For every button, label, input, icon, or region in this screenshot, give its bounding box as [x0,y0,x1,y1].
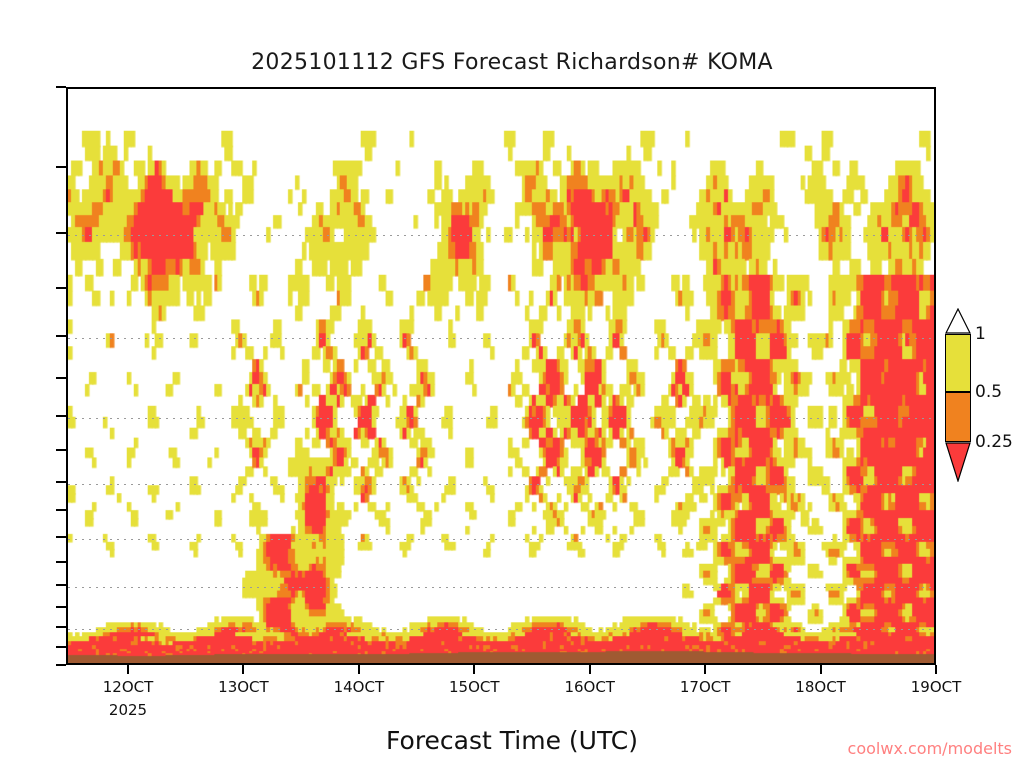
x-axis-tick-label: 17OCT [680,678,731,696]
x-axis-tick-mark [473,665,475,674]
y-axis-tick-mark [56,415,66,417]
chart-canvas: 2025101112 GFS Forecast Richardson# KOMA… [0,0,1024,768]
colorbar-segment-orange [945,392,971,442]
x-axis-tick-mark [242,665,244,674]
x-axis-tick-mark [935,665,937,674]
colorbar: 10.50.25 [945,308,971,480]
y-axis-tick-mark [56,664,66,666]
y-axis-tick-mark [56,626,66,628]
y-axis-tick-mark [56,166,66,168]
x-axis-tick-label: 14OCT [334,678,385,696]
colorbar-tick-label: 0.25 [975,432,1013,452]
y-axis-tick-mark [56,561,66,563]
x-axis-tick-mark [704,665,706,674]
colorbar-segment-yellow [945,334,971,392]
y-axis-tick-mark [56,536,66,538]
y-axis-tick-mark [56,335,66,337]
y-axis-tick-mark [56,232,66,234]
x-axis-tick-mark [589,665,591,674]
y-axis-tick-mark [56,481,66,483]
x-axis-tick-mark [358,665,360,674]
x-axis-tick-label: 18OCT [795,678,846,696]
watermark: coolwx.com/modelts [848,739,1012,758]
y-axis-tick-mark [56,509,66,511]
y-axis-tick-mark [56,584,66,586]
colorbar-upper-arrow [945,308,971,334]
y-axis-tick-mark [56,606,66,608]
colorbar-lower-arrow [945,442,971,482]
y-axis-tick-mark [56,287,66,289]
colorbar-tick-label: 1 [975,324,986,344]
richardson-heatmap-cells [68,89,934,663]
x-axis-tick-label: 16OCT [564,678,615,696]
x-axis-year-label: 2025 [109,701,147,719]
chart-title: 2025101112 GFS Forecast Richardson# KOMA [0,50,1024,75]
colorbar-tick-label: 0.5 [975,382,1002,402]
y-axis-tick-mark [56,646,66,648]
x-axis-tick-label: 13OCT [218,678,269,696]
heatmap-plot-area [66,87,936,665]
x-axis-tick-label: 12OCT [103,678,154,696]
x-axis-tick-mark [127,665,129,674]
x-axis-tick-label: 15OCT [449,678,500,696]
y-axis-tick-mark [56,449,66,451]
x-axis-tick-label: 19OCT [911,678,962,696]
x-axis-tick-mark [820,665,822,674]
y-axis-tick-mark [56,86,66,88]
y-axis-tick-mark [56,377,66,379]
